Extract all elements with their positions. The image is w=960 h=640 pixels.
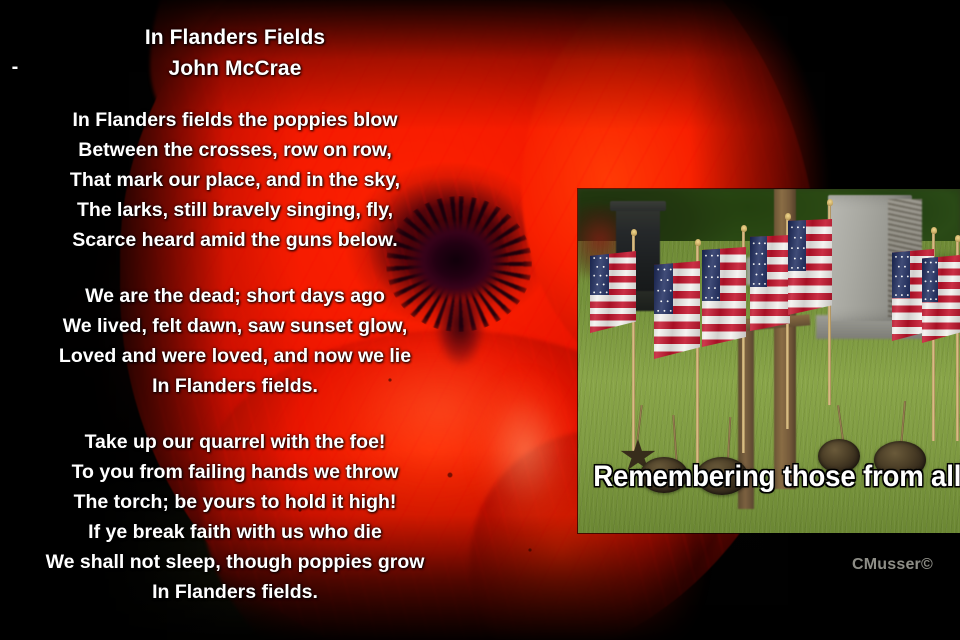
poem-stanzas: In Flanders fields the poppies blow Betw… xyxy=(0,105,470,607)
poem-line: We are the dead; short days ago xyxy=(0,281,470,311)
poem-line: If ye break faith with us who die xyxy=(0,517,470,547)
poem-line: The larks, still bravely singing, fly, xyxy=(0,195,470,225)
byline-dash: - xyxy=(4,56,26,78)
poem-title: In Flanders Fields xyxy=(0,22,470,53)
cemetery-flags-photo: Remembering those from all wars xyxy=(578,189,960,533)
poem-stanza: We are the dead; short days ago We lived… xyxy=(0,281,470,401)
photo-caption: Remembering those from all wars xyxy=(593,461,944,493)
poem-line: We shall not sleep, though poppies grow xyxy=(0,547,470,577)
poem-line: Scarce heard amid the guns below. xyxy=(0,225,470,255)
poem-line: The torch; be yours to hold it high! xyxy=(0,487,470,517)
dark-gravestone-cap xyxy=(610,201,666,211)
photographer-watermark: CMusser© xyxy=(852,556,933,574)
poem-stanza: In Flanders fields the poppies blow Betw… xyxy=(0,105,470,255)
poem-line: Loved and were loved, and now we lie xyxy=(0,341,470,371)
poster-image: In Flanders Fields John McCrae In Flande… xyxy=(0,0,960,640)
poem-line: Between the crosses, row on row, xyxy=(0,135,470,165)
poem-line: To you from failing hands we throw xyxy=(0,457,470,487)
poem-line: We lived, felt dawn, saw sunset glow, xyxy=(0,311,470,341)
poem-line: In Flanders fields the poppies blow xyxy=(0,105,470,135)
poem-line: Take up our quarrel with the foe! xyxy=(0,427,470,457)
poem-line: In Flanders fields. xyxy=(0,371,470,401)
poem-stanza: Take up our quarrel with the foe! To you… xyxy=(0,427,470,607)
poem-author: John McCrae xyxy=(0,53,470,84)
poem-heading: In Flanders Fields John McCrae xyxy=(0,22,470,84)
poem-line: In Flanders fields. xyxy=(0,577,470,607)
poem-line: That mark our place, and in the sky, xyxy=(0,165,470,195)
